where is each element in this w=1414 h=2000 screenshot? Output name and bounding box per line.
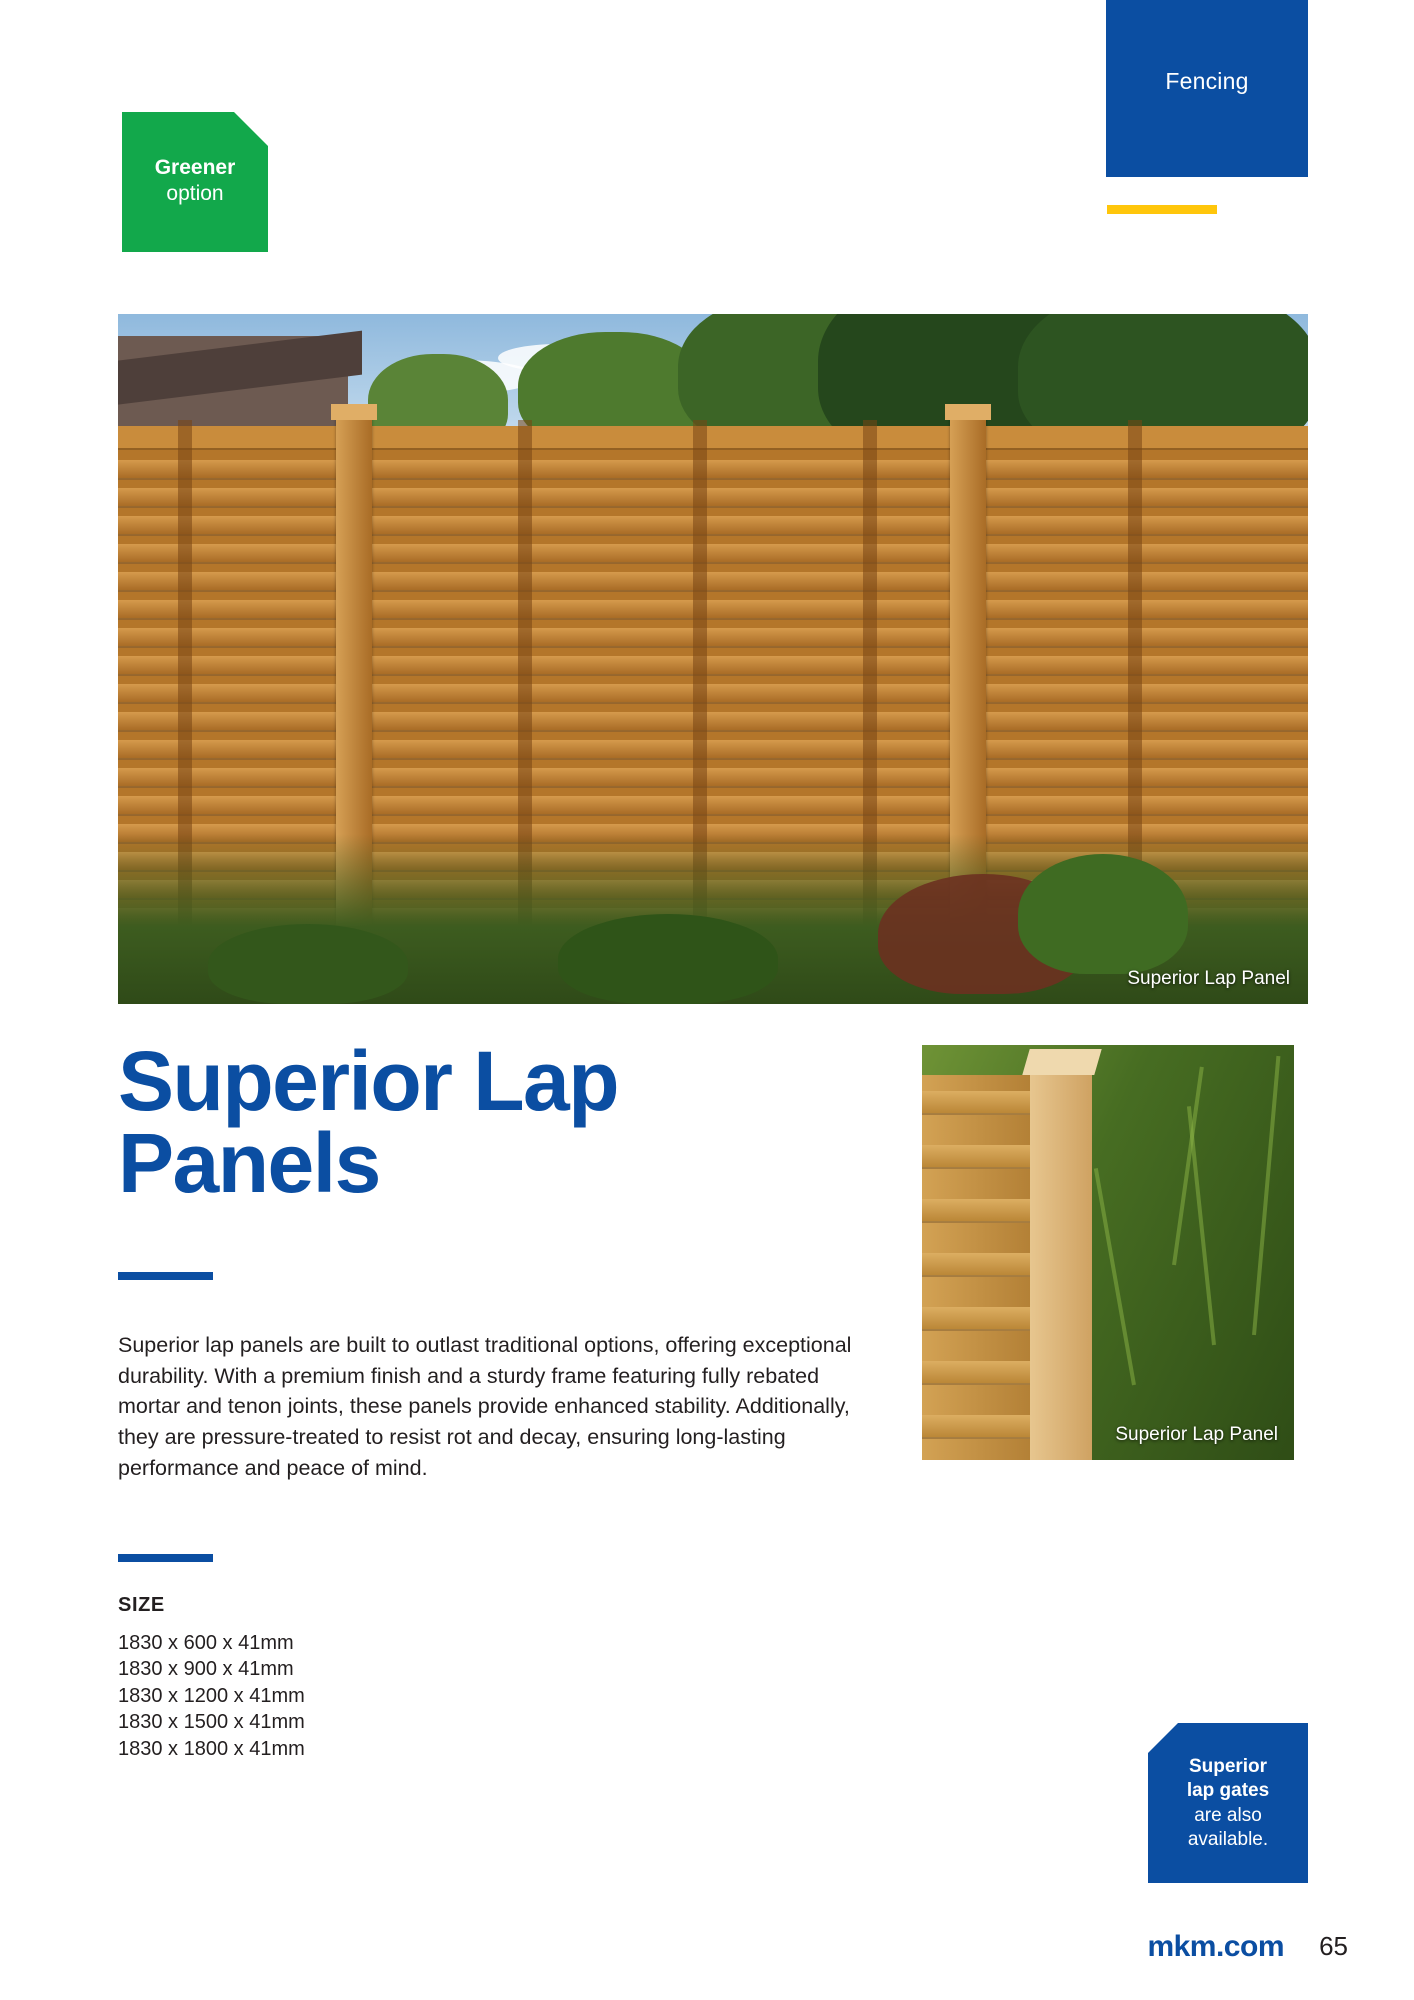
lap-gates-badge: Superior lap gates are also available.	[1148, 1723, 1308, 1883]
size-list-item: 1830 x 1200 x 41mm	[118, 1683, 305, 1709]
size-list-item: 1830 x 900 x 41mm	[118, 1656, 305, 1682]
gates-line2: lap gates	[1148, 1779, 1308, 1803]
lap-panel-detail	[922, 1075, 1042, 1460]
title-accent-rule	[118, 1272, 213, 1280]
detail-image: Superior Lap Panel	[922, 1045, 1294, 1460]
gates-line4: available.	[1148, 1828, 1308, 1852]
panel-frame-post	[1030, 1055, 1092, 1460]
brand-logo: mkm.com	[1147, 1930, 1284, 1964]
panel-frame-post-top	[1022, 1049, 1101, 1075]
hero-image: Superior Lap Panel	[118, 314, 1308, 1004]
lap-gates-badge-text: Superior lap gates are also available.	[1148, 1755, 1308, 1852]
section-tab: Fencing	[1106, 0, 1308, 177]
panel-slat	[922, 1145, 1042, 1169]
gates-line3: are also	[1148, 1804, 1308, 1828]
catalogue-page: Fencing Greener option	[0, 0, 1414, 2000]
size-heading: SIZE	[118, 1594, 165, 1617]
fence-post-cap	[331, 404, 377, 420]
panel-slat	[922, 1307, 1042, 1331]
panel-slat	[922, 1091, 1042, 1115]
page-title: Superior Lap Panels	[118, 1040, 818, 1205]
bush-shape	[558, 914, 778, 1004]
size-accent-rule	[118, 1554, 213, 1562]
header-accent-rule	[1107, 205, 1217, 214]
detail-image-caption: Superior Lap Panel	[1115, 1424, 1278, 1446]
roof-shape	[118, 331, 362, 406]
size-list-item: 1830 x 600 x 41mm	[118, 1630, 305, 1656]
panel-slat	[922, 1361, 1042, 1385]
product-description: Superior lap panels are built to outlast…	[118, 1330, 878, 1484]
size-list-item: 1830 x 1500 x 41mm	[118, 1709, 305, 1735]
greener-badge-line2: option	[122, 182, 268, 206]
fence-structure	[118, 426, 1308, 1004]
greener-option-badge: Greener option	[122, 112, 268, 252]
bush-shape	[208, 924, 408, 1004]
size-list: 1830 x 600 x 41mm 1830 x 900 x 41mm 1830…	[118, 1630, 305, 1762]
size-list-item: 1830 x 1800 x 41mm	[118, 1736, 305, 1762]
greener-badge-line1: Greener	[122, 156, 268, 180]
fence-post-cap	[945, 404, 991, 420]
panel-slat	[922, 1199, 1042, 1223]
panel-slat	[922, 1415, 1042, 1439]
page-title-line2: Panels	[118, 1122, 818, 1204]
panel-slat	[922, 1253, 1042, 1277]
page-number: 65	[1319, 1931, 1348, 1962]
bush-shape	[1018, 854, 1188, 974]
gates-line1: Superior	[1148, 1755, 1308, 1779]
page-title-line1: Superior Lap	[118, 1040, 818, 1122]
hero-caption: Superior Lap Panel	[1127, 968, 1290, 990]
section-tab-label: Fencing	[1106, 68, 1308, 95]
